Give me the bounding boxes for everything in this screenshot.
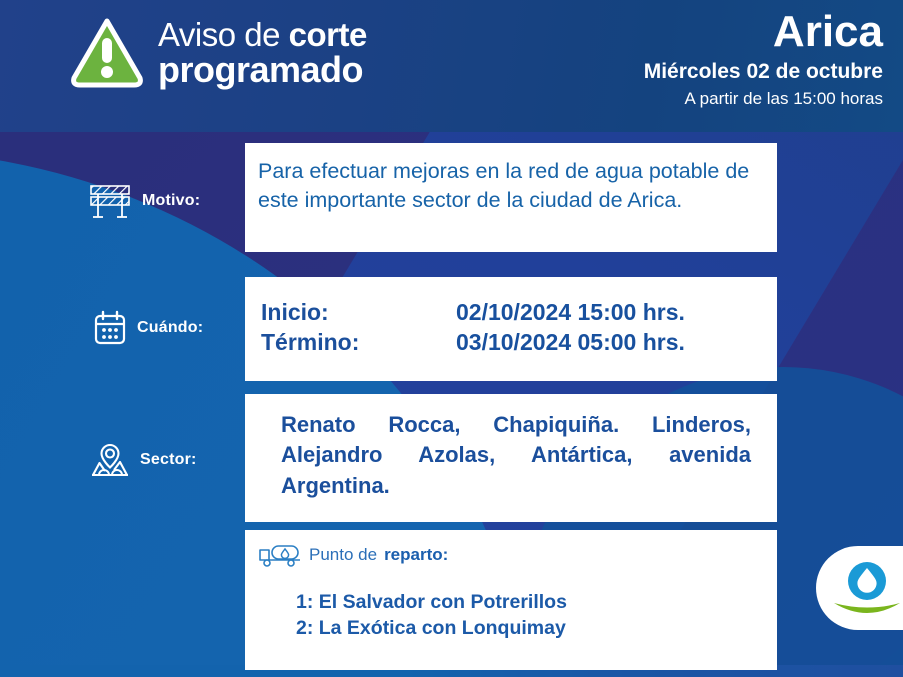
card-motivo: Para efectuar mejoras en la red de agua … — [245, 143, 777, 252]
city-name: Arica — [644, 10, 883, 54]
card-punto-de-reparto: Punto de reparto: 1: El Salvador con Pot… — [245, 530, 777, 670]
value-inicio: 02/10/2024 15:00 hrs. — [456, 299, 777, 326]
reparto-heading: Punto de reparto: — [258, 542, 777, 568]
label-termino: Término: — [261, 329, 456, 356]
schedule-grid: Inicio: 02/10/2024 15:00 hrs. Término: 0… — [261, 299, 777, 356]
sector-text: Renato Rocca, Chapiquiña. Linderos, Alej… — [281, 410, 751, 501]
list-item: 2: La Exótica con Lonquimay — [296, 616, 777, 642]
brand-lockup: Aviso de corte programado — [70, 18, 367, 88]
map-pin-terrain-icon — [90, 440, 130, 480]
road-barrier-icon — [88, 182, 132, 220]
warning-triangle-icon — [70, 18, 144, 88]
brand-line-1: Aviso de corte — [158, 19, 367, 51]
water-company-logo — [816, 546, 903, 630]
brand-word-aviso: Aviso de — [158, 16, 289, 53]
water-tanker-truck-icon — [258, 542, 302, 568]
brand-text: Aviso de corte programado — [158, 19, 367, 87]
card-sector: Renato Rocca, Chapiquiña. Linderos, Alej… — [245, 394, 777, 522]
outage-date: Miércoles 02 de octubre — [644, 60, 883, 83]
calendar-icon — [93, 310, 127, 346]
reparto-heading-normal: Punto de — [309, 545, 377, 565]
row-label-sector: Sector: — [90, 440, 197, 480]
reparto-heading-bold: reparto: — [384, 545, 448, 565]
header-location-date: Arica Miércoles 02 de octubre A partir d… — [644, 10, 883, 109]
motivo-text: Para efectuar mejoras en la red de agua … — [258, 157, 761, 214]
label-motivo: Motivo: — [142, 192, 200, 210]
brand-word-corte: corte — [289, 16, 367, 53]
outage-notice-poster: Aviso de corte programado Arica Miércole… — [0, 0, 903, 677]
row-label-motivo: Motivo: — [88, 182, 200, 220]
reparto-points-list: 1: El Salvador con Potrerillos 2: La Exó… — [296, 590, 777, 641]
poster-header: Aviso de corte programado Arica Miércole… — [0, 0, 903, 132]
row-label-cuando: Cuándo: — [93, 310, 203, 346]
brand-line-2: programado — [158, 53, 367, 88]
card-cuando: Inicio: 02/10/2024 15:00 hrs. Término: 0… — [245, 277, 777, 381]
label-inicio: Inicio: — [261, 299, 456, 326]
label-cuando: Cuándo: — [137, 319, 203, 337]
list-item: 1: El Salvador con Potrerillos — [296, 590, 777, 616]
label-sector: Sector: — [140, 451, 197, 469]
outage-start-note: A partir de las 15:00 horas — [644, 90, 883, 109]
value-termino: 03/10/2024 05:00 hrs. — [456, 329, 777, 356]
